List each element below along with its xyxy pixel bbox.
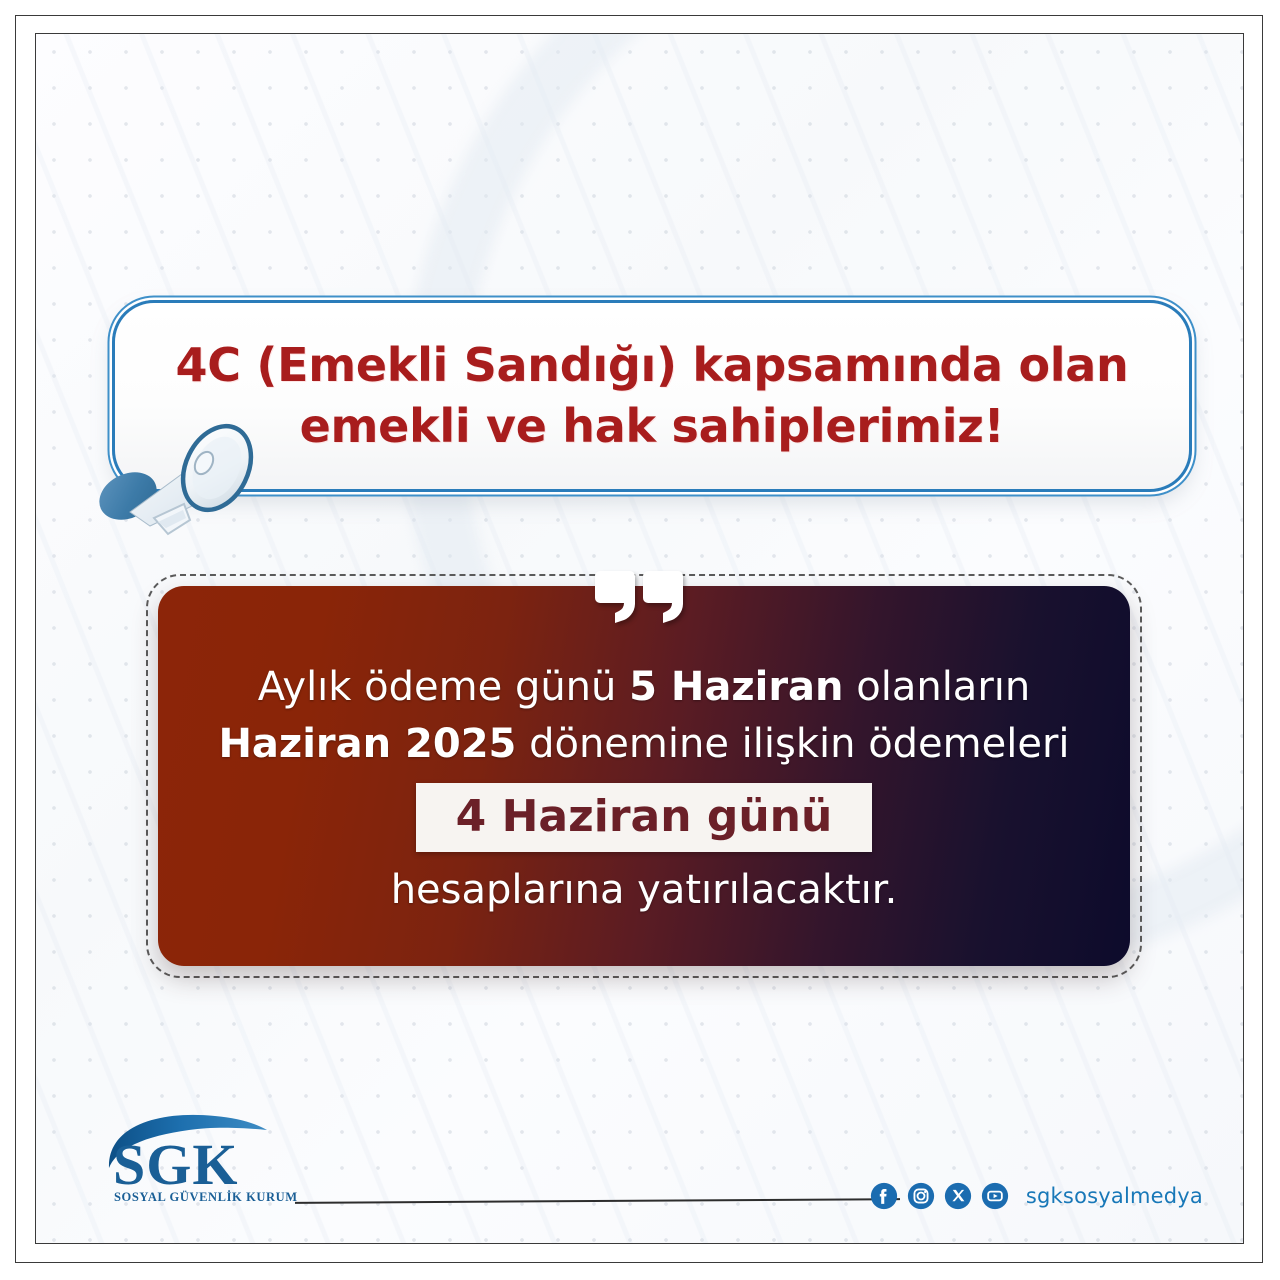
header-callout-box: 4C (Emekli Sandığı) kapsamında olan emek… (112, 300, 1192, 492)
announcement-text: Aylık ödeme günü 5 Haziran olanların Haz… (158, 633, 1130, 918)
x-twitter-icon[interactable] (944, 1182, 972, 1210)
line2-suffix: dönemine ilişkin ödemeleri (516, 721, 1069, 767)
facebook-icon[interactable] (870, 1182, 898, 1210)
instagram-icon[interactable] (907, 1182, 935, 1210)
social-handle-label[interactable]: sgksosyalmedya (1026, 1184, 1203, 1208)
svg-text:SGK: SGK (113, 1132, 239, 1197)
footer: SGK SOSYAL GÜVENLİK KURUMU (35, 1096, 1245, 1246)
header-line-2: emekli ve hak sahiplerimiz! (300, 396, 1005, 457)
payment-date-highlight: 4 Haziran günü (416, 783, 873, 852)
announcement-line-1: Aylık ödeme günü 5 Haziran olanların (158, 659, 1130, 716)
youtube-icon[interactable] (981, 1182, 1009, 1210)
announcement-highlight-row: 4 Haziran günü (158, 783, 1130, 852)
announcement-card: Aylık ödeme günü 5 Haziran olanların Haz… (158, 586, 1130, 966)
social-media-links[interactable]: sgksosyalmedya (870, 1182, 1203, 1210)
poster-canvas: 4C (Emekli Sandığı) kapsamında olan emek… (0, 0, 1280, 1280)
announcement-line-2: Haziran 2025 dönemine ilişkin ödemeleri (158, 716, 1130, 773)
line1-prefix: Aylık ödeme günü (258, 664, 629, 710)
line1-suffix: olanların (844, 664, 1031, 710)
footer-divider-line (295, 1198, 900, 1204)
svg-text:SOSYAL GÜVENLİK KURUMU: SOSYAL GÜVENLİK KURUMU (114, 1190, 297, 1204)
sgk-logo: SGK SOSYAL GÜVENLİK KURUMU (97, 1106, 297, 1216)
announcement-line-4: hesaplarına yatırılacaktır. (158, 862, 1130, 919)
header-line-1: 4C (Emekli Sandığı) kapsamında olan (176, 335, 1129, 396)
line2-emphasis: Haziran 2025 (218, 721, 516, 767)
line1-emphasis: 5 Haziran (629, 664, 843, 710)
